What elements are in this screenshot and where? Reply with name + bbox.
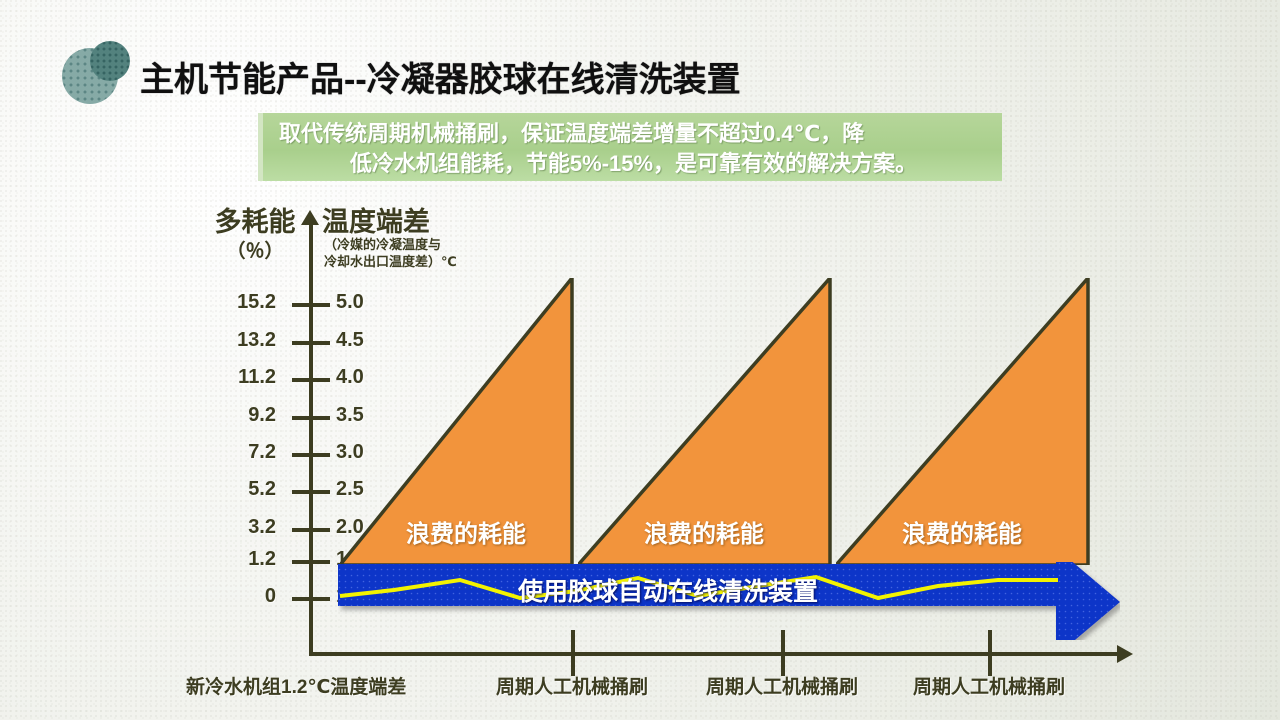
y-axis-tick bbox=[292, 453, 330, 457]
y-axis-left-label: 0 bbox=[206, 585, 276, 608]
x-axis-label: 周期人工机械捅刷 bbox=[706, 672, 858, 699]
wasted-energy-label: 浪费的耗能 bbox=[644, 514, 764, 549]
wasted-energy-label: 浪费的耗能 bbox=[902, 514, 1022, 549]
callout-line-1: 取代传统周期机械捅刷，保证温度端差增量不超过0.4℃，降 bbox=[279, 119, 988, 149]
y-axis-left-label: 15.2 bbox=[206, 291, 276, 314]
y-axis-tick bbox=[292, 303, 330, 307]
right-axis-subtitle: （冷媒的冷凝温度与 冷却水出口温度差）℃ bbox=[324, 236, 524, 270]
y-axis-tick bbox=[292, 416, 330, 420]
right-axis-subtitle-line-2: 冷却水出口温度差）℃ bbox=[324, 253, 524, 270]
page-title: 主机节能产品--冷凝器胶球在线清洗装置 bbox=[140, 52, 900, 101]
wasted-energy-label: 浪费的耗能 bbox=[406, 514, 526, 549]
y-axis-left-label: 9.2 bbox=[206, 404, 276, 427]
logo-circle-small bbox=[90, 41, 130, 81]
y-axis-tick bbox=[292, 597, 330, 601]
left-axis-title: 多耗能 bbox=[196, 200, 314, 239]
y-axis-tick bbox=[292, 528, 330, 532]
y-axis-tick bbox=[292, 378, 330, 382]
y-axis-left-label: 11.2 bbox=[206, 366, 276, 389]
y-axis-arrowhead-icon bbox=[301, 210, 319, 225]
y-axis-left-label: 5.2 bbox=[206, 478, 276, 501]
x-axis-tick bbox=[571, 630, 575, 676]
right-axis-title: 温度端差 bbox=[322, 200, 430, 239]
y-axis-left-label: 1.2 bbox=[206, 548, 276, 571]
blue-arrow-label: 使用胶球自动在线清洗装置 bbox=[338, 572, 998, 608]
x-axis-tick bbox=[988, 630, 992, 676]
left-axis-unit: （％） bbox=[196, 236, 314, 263]
x-axis-label: 新冷水机组1.2℃温度端差 bbox=[186, 672, 406, 699]
y-axis-tick bbox=[292, 490, 330, 494]
two-circles-logo-icon bbox=[62, 41, 136, 105]
y-axis-tick bbox=[292, 341, 330, 345]
y-axis-tick bbox=[292, 560, 330, 564]
y-axis-left-label: 7.2 bbox=[206, 441, 276, 464]
right-axis-subtitle-line-1: （冷媒的冷凝温度与 bbox=[324, 236, 524, 253]
x-axis-tick bbox=[781, 630, 785, 676]
x-axis-line bbox=[309, 652, 1119, 656]
y-axis-left-label: 13.2 bbox=[206, 329, 276, 352]
y-axis-line bbox=[309, 222, 313, 654]
x-axis-arrowhead-icon bbox=[1117, 645, 1133, 663]
x-axis-label: 周期人工机械捅刷 bbox=[496, 672, 648, 699]
callout-banner: 取代传统周期机械捅刷，保证温度端差增量不超过0.4℃，降 低冷水机组能耗，节能5… bbox=[258, 113, 1002, 181]
y-axis-left-label: 3.2 bbox=[206, 516, 276, 539]
callout-line-2: 低冷水机组能耗，节能5%-15%，是可靠有效的解决方案。 bbox=[279, 149, 988, 179]
x-axis-label: 周期人工机械捅刷 bbox=[913, 672, 1065, 699]
